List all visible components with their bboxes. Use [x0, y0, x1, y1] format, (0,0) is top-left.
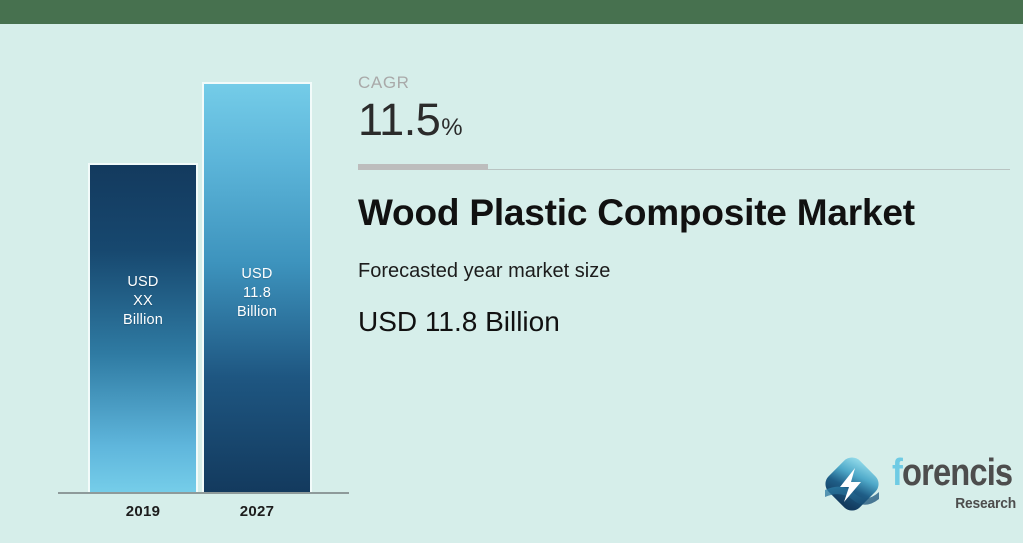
- bar-2019-label-line2: XX: [90, 292, 196, 311]
- page-title: Wood Plastic Composite Market: [358, 193, 1013, 234]
- wordmark-text: forencis: [892, 454, 1012, 492]
- divider-accent-segment: [358, 164, 488, 170]
- forencis-wordmark: forencis Research: [892, 452, 1016, 516]
- bar-2019-label-line1: USD: [90, 273, 196, 292]
- forecast-label: Forecasted year market size: [358, 259, 1013, 283]
- infographic-canvas: USD XX Billion USD 11.8 Billion 2019 202…: [0, 0, 1023, 543]
- bar-2019-label: USD XX Billion: [90, 273, 196, 330]
- cagr-label: CAGR: [358, 74, 1013, 91]
- forencis-research-logo: forencis Research: [820, 450, 1016, 520]
- wordmark-subtext: Research: [955, 496, 1016, 511]
- wordmark-remainder: orencis: [902, 452, 1012, 494]
- forecast-value: USD 11.8 Billion: [358, 305, 1013, 339]
- cagr-value: 11.5: [358, 97, 440, 142]
- x-axis-tick-2019: 2019: [88, 503, 198, 520]
- content-column: CAGR 11.5 % Wood Plastic Composite Marke…: [358, 74, 1013, 338]
- bar-2027-label-line3: Billion: [204, 303, 310, 322]
- cagr-value-row: 11.5 %: [358, 97, 1013, 142]
- forencis-badge-icon: [820, 452, 884, 516]
- cagr-unit: %: [441, 116, 462, 140]
- top-green-band: [0, 0, 1023, 24]
- bar-2027-label-line1: USD: [204, 265, 310, 284]
- bar-2027-label-line2: 11.8: [204, 284, 310, 303]
- bar-2027-label: USD 11.8 Billion: [204, 265, 310, 322]
- x-axis-tick-2027: 2027: [202, 503, 312, 520]
- bar-2019: USD XX Billion: [88, 163, 198, 492]
- bar-2027: USD 11.8 Billion: [202, 82, 312, 492]
- wordmark-initial: f: [892, 452, 902, 494]
- chart-axis-line: [58, 492, 349, 494]
- section-divider: [358, 164, 1010, 171]
- bar-2019-label-line3: Billion: [90, 311, 196, 330]
- bar-chart: USD XX Billion USD 11.8 Billion 2019 202…: [0, 24, 360, 543]
